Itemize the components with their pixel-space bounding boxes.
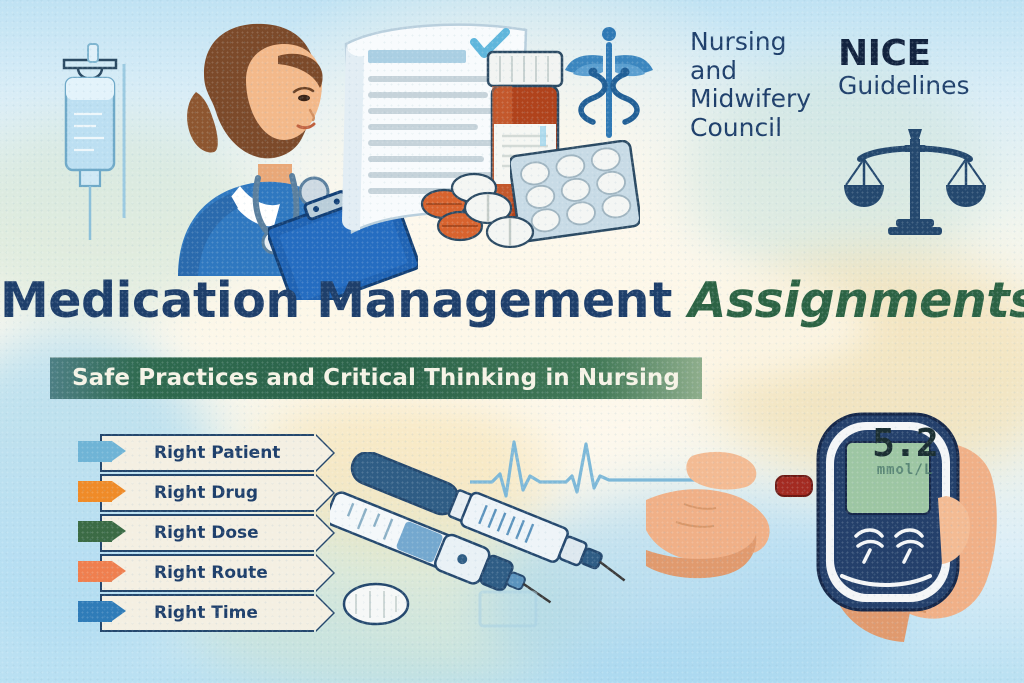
page-title-part-2: Assignments: [689, 272, 1024, 329]
chevron-right-icon: [78, 561, 126, 582]
chevron-right-icon: [78, 601, 126, 622]
nmc-logo: Nursing and Midwifery Council: [690, 28, 812, 142]
nmc-line-4: Council: [690, 114, 812, 143]
glucometer-reading: 5.2: [856, 424, 954, 462]
insulin-pen-and-syringe-illustration: [330, 452, 640, 632]
nice-logo: NICE Guidelines: [838, 36, 978, 99]
nice-logo-title: NICE: [838, 36, 978, 72]
subtitle-banner-text: Safe Practices and Critical Thinking in …: [72, 365, 680, 391]
glucometer-unit-label: mmol/L: [856, 462, 954, 478]
chevron-right-icon: [78, 521, 126, 542]
list-item-label: Right Time: [154, 603, 258, 623]
list-item-label: Right Route: [154, 563, 268, 583]
chevron-right-icon: [78, 481, 126, 502]
subtitle-banner: Safe Practices and Critical Thinking in …: [50, 357, 702, 399]
poster-canvas: Nursing and Midwifery Council NICE Guide…: [0, 0, 1024, 683]
right-time-box[interactable]: Right Time: [100, 594, 314, 632]
caduceus-icon: [563, 22, 655, 142]
list-item-label: Right Drug: [154, 483, 258, 503]
nmc-logo-text: Nursing and Midwifery Council: [690, 28, 812, 142]
right-dose-box[interactable]: Right Dose: [100, 514, 314, 552]
hands-holding-glucometer-illustration: [646, 400, 1024, 683]
nmc-line-3: Midwifery: [690, 85, 812, 114]
nmc-line-1: Nursing: [690, 28, 812, 57]
scales-of-justice-icon: [840, 125, 990, 235]
loose-pills-illustration: [418, 164, 548, 248]
chevron-right-icon: [78, 441, 126, 462]
page-title-part-1: Medication Management: [0, 272, 689, 329]
list-item-label: Right Dose: [154, 523, 259, 543]
page-title: Medication Management Assignments: [0, 272, 1024, 329]
nice-logo-subtitle: Guidelines: [838, 73, 978, 99]
right-route-box[interactable]: Right Route: [100, 554, 314, 592]
right-drug-box[interactable]: Right Drug: [100, 474, 314, 512]
list-item-label: Right Patient: [154, 443, 280, 463]
nmc-line-2: and: [690, 57, 812, 86]
right-patient-box[interactable]: Right Patient: [100, 434, 314, 472]
